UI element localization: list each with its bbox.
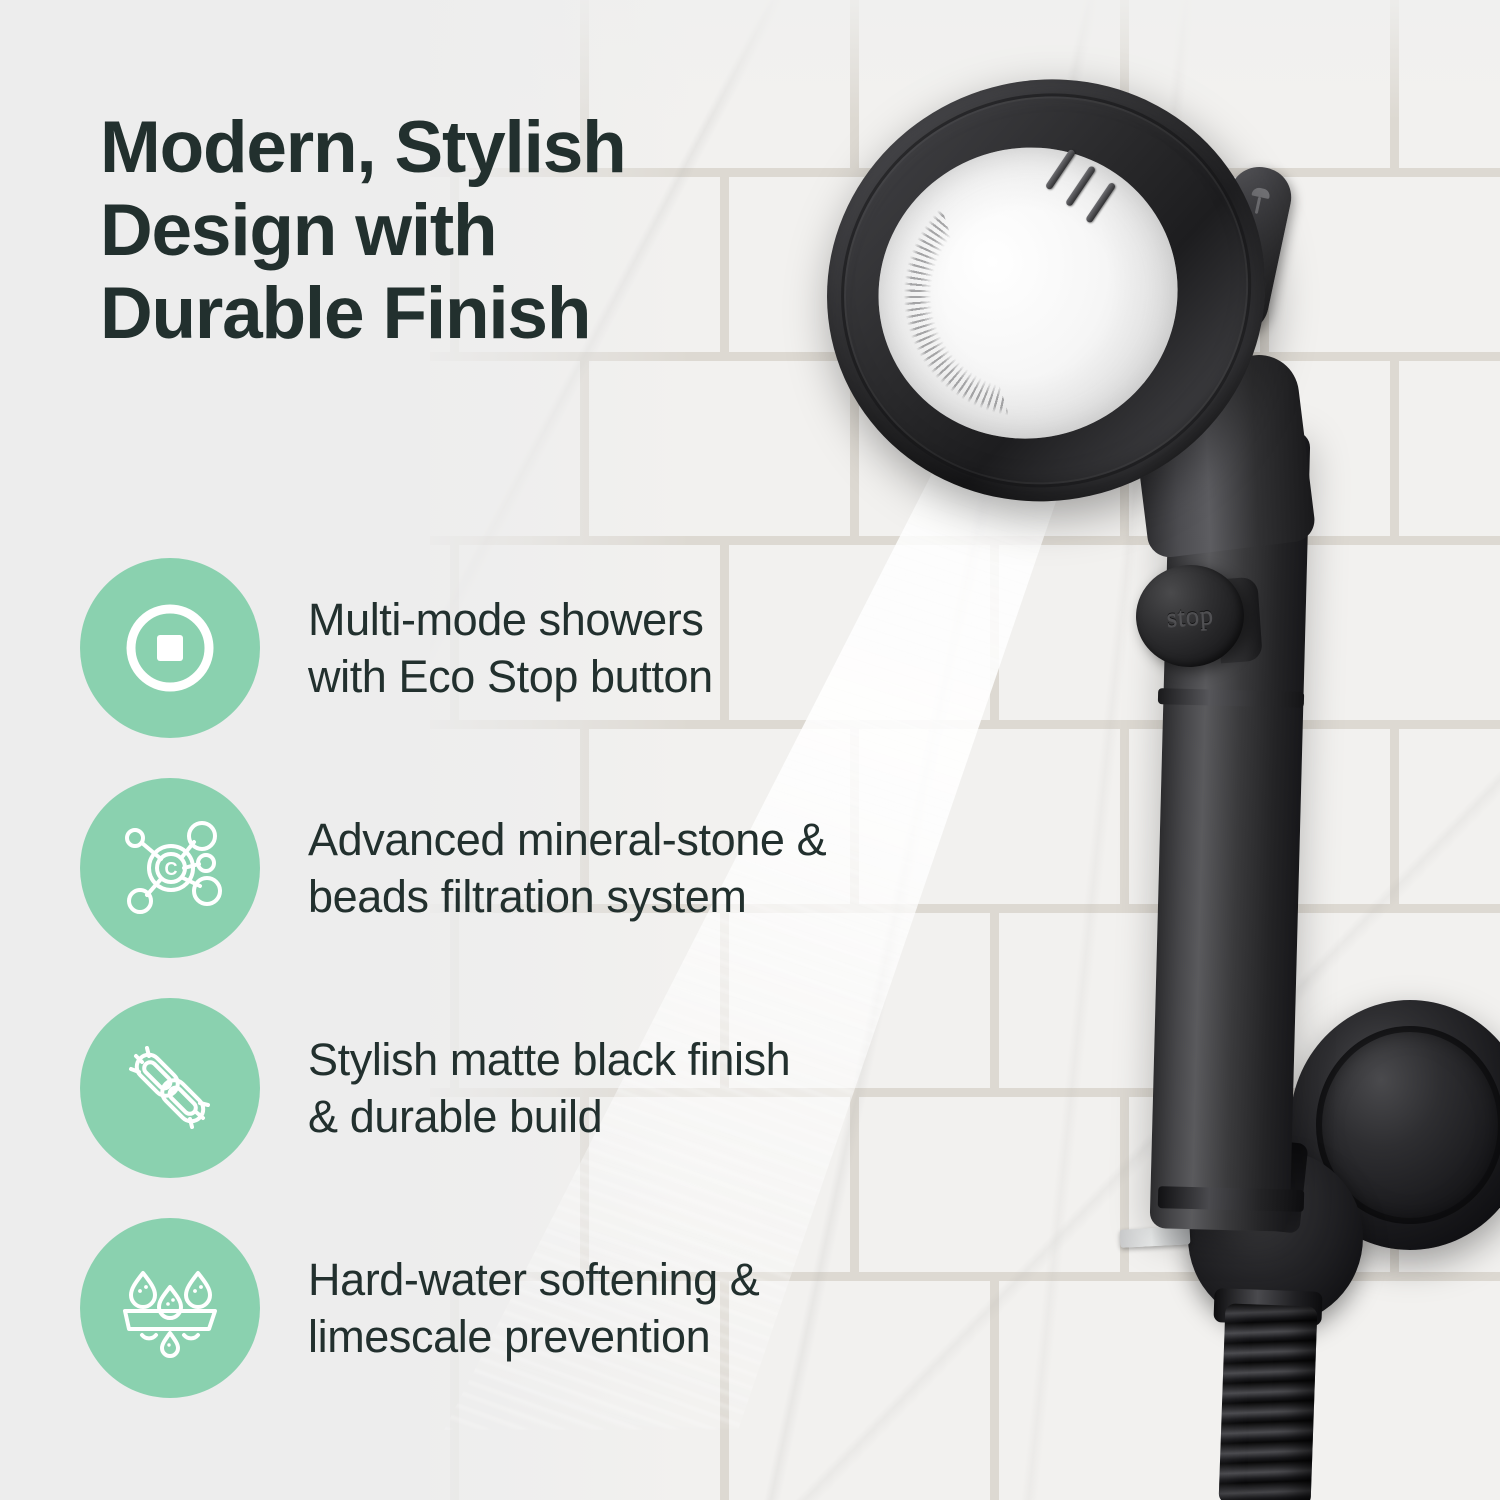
feature-label-4: Hard-water softening & limescale prevent… [308,1251,759,1365]
feature-item-1: Multi-mode showers with Eco Stop button [80,558,1080,738]
headline-line-3: Durable Finish [100,272,720,355]
flexible-hose [1219,1303,1318,1500]
water-droplets-filter-icon [80,1218,260,1398]
page-title: Modern, Stylish Design with Durable Fini… [100,106,720,356]
headline-line-2: Design with [100,189,720,272]
svg-text:C: C [165,859,178,879]
stop-button-icon-glyph [115,593,225,703]
feature-item-3: Stylish matte black finish & durable bui… [80,998,1080,1178]
chain-link-shine-icon-glyph [114,1032,226,1144]
content-panel: Modern, Stylish Design with Durable Fini… [0,0,700,1500]
barrel-ring-lower [1158,1186,1305,1212]
bracket-clip-tab [1120,1226,1191,1248]
feature-item-2: C Advanced mineral-stone & beads filtrat… [80,778,1080,958]
water-droplets-filter-icon-glyph [113,1251,227,1365]
mineral-molecule-icon-glyph: C [114,812,226,924]
feature-label-2: Advanced mineral-stone & beads filtratio… [308,811,826,925]
mineral-molecule-icon: C [80,778,260,958]
chain-link-shine-icon [80,998,260,1178]
feature-item-4: Hard-water softening & limescale prevent… [80,1218,1080,1398]
stop-button-icon [80,558,260,738]
headline-line-1: Modern, Stylish [100,106,720,189]
infographic-canvas: stop Modern, Stylish [0,0,1500,1500]
feature-label-3: Stylish matte black finish & durable bui… [308,1031,790,1145]
feature-label-1: Multi-mode showers with Eco Stop button [308,591,713,705]
feature-list: Multi-mode showers with Eco Stop button [80,558,1080,1438]
stop-button-label: stop [1165,599,1214,633]
